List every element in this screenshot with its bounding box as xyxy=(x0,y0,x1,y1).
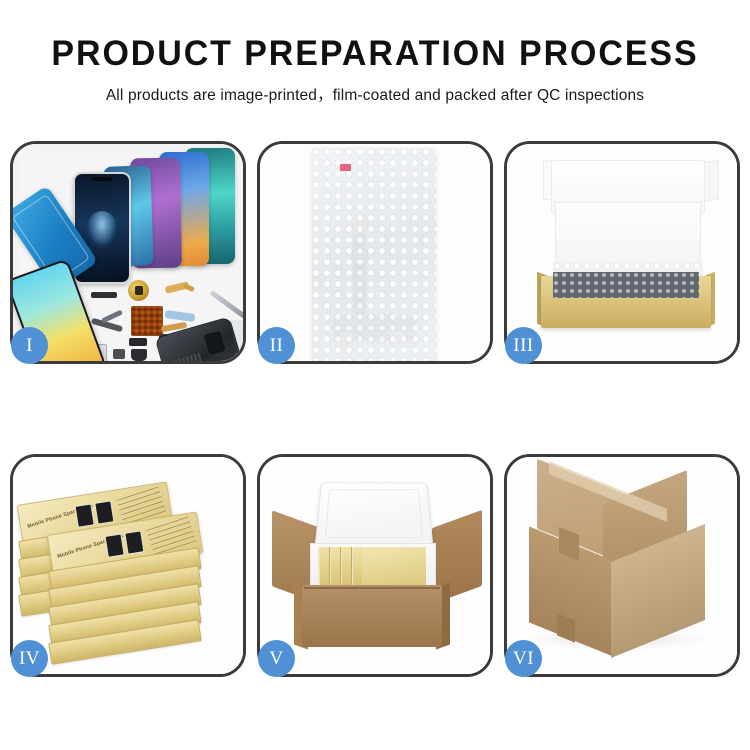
part-speaker-icon xyxy=(131,349,147,361)
step-panel-1: I xyxy=(10,141,246,364)
carton-top-edge xyxy=(304,587,440,589)
box-group xyxy=(362,547,426,585)
step-image-5 xyxy=(260,457,490,674)
page-title: PRODUCT PREPARATION PROCESS xyxy=(11,32,739,76)
step-image-1 xyxy=(13,144,243,361)
step-image-4: Mobile Phone Spare Parts Mobile Phone Sp… xyxy=(13,457,243,674)
step-panel-5: V xyxy=(257,454,493,677)
bubble-wrap-icon xyxy=(312,148,436,361)
part-module-icon xyxy=(129,338,147,346)
box-phone-image-2 xyxy=(94,500,114,524)
box-phone-image-1 xyxy=(75,503,95,527)
box-slat xyxy=(320,547,330,585)
step-panel-6: VI xyxy=(504,454,740,677)
packed-contents-icon xyxy=(553,272,699,298)
step-panel-3: III xyxy=(504,141,740,364)
product-preparation-infographic: PRODUCT PREPARATION PROCESS All products… xyxy=(0,0,750,750)
packed-yellow-boxes-icon xyxy=(318,547,426,585)
part-coil-icon xyxy=(128,280,149,301)
part-copper-chip-icon xyxy=(131,306,163,336)
foam-lid-icon xyxy=(315,482,434,547)
step-badge-4: IV xyxy=(11,640,48,677)
steps-grid: I II xyxy=(10,141,740,686)
step-image-3 xyxy=(507,144,737,361)
box-slat xyxy=(331,547,341,585)
step-badge-2: II xyxy=(258,327,295,364)
phone-notch xyxy=(92,177,112,181)
part-camera-icon xyxy=(113,349,125,359)
step-image-2 xyxy=(260,144,490,361)
pink-label-sticker xyxy=(340,164,351,171)
step-badge-6: VI xyxy=(505,640,542,677)
step-badge-1: I xyxy=(11,327,48,364)
step-panel-4: Mobile Phone Spare Parts Mobile Phone Sp… xyxy=(10,454,246,677)
carton-body-icon xyxy=(302,585,442,647)
box-phone-image-1 xyxy=(105,533,125,557)
wallpaper-graphic xyxy=(86,211,118,249)
step-image-6 xyxy=(507,457,737,674)
box-slat xyxy=(342,547,352,585)
header: PRODUCT PREPARATION PROCESS All products… xyxy=(0,32,750,105)
step-panel-2: II xyxy=(257,141,493,364)
box-phone-image-2 xyxy=(124,530,144,554)
part-speaker-bar-icon xyxy=(91,292,117,298)
yellow-inner-box-icon xyxy=(541,276,711,328)
page-subtitle: All products are image-printed，film-coat… xyxy=(0,83,750,105)
step-badge-3: III xyxy=(505,327,542,364)
step-badge-5: V xyxy=(258,640,295,677)
